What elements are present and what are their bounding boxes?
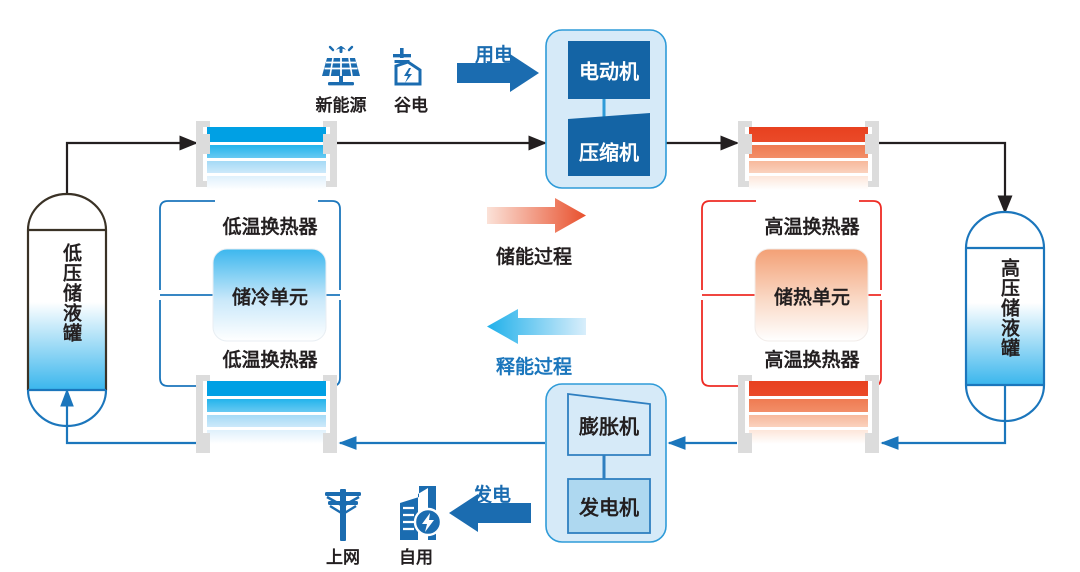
use-power-label: 用电 bbox=[475, 40, 513, 67]
pipe-hptank-to-hothx-bottom bbox=[882, 385, 1005, 443]
source-label-valley-power: 谷电 bbox=[394, 91, 428, 116]
diagram-canvas: 新能源 谷电 用电 上网 自用 发电 电动机 压缩机 膨胀机 发电机 低压储液罐… bbox=[0, 0, 1080, 572]
source-label-new-energy: 新能源 bbox=[316, 91, 367, 116]
discharge-process-arrow bbox=[487, 309, 586, 344]
heat-exchanger-hot-bottom bbox=[738, 375, 879, 453]
motor-label: 电动机 bbox=[579, 56, 639, 85]
pipe-hothx-to-hptank bbox=[879, 143, 1005, 212]
generate-power-label: 发电 bbox=[473, 480, 511, 507]
hot-hx-top-label: 高温换热器 bbox=[764, 212, 859, 239]
heat-exchanger-hot-top bbox=[738, 121, 879, 190]
cold-loop-bottom-left bbox=[160, 300, 215, 386]
charge-process-arrow bbox=[487, 198, 586, 233]
output-label-grid: 上网 bbox=[326, 543, 360, 568]
building-power-icon bbox=[400, 486, 441, 540]
pipe-coldhx-to-lptank bbox=[67, 390, 196, 443]
output-label-self-use: 自用 bbox=[399, 543, 433, 568]
cold-hx-bottom-label: 低温换热器 bbox=[222, 345, 317, 372]
hot-storage-unit-label: 储热单元 bbox=[774, 283, 850, 310]
generator-label: 发电机 bbox=[579, 492, 639, 521]
compressor-label: 压缩机 bbox=[579, 137, 639, 166]
charge-process-label: 储能过程 bbox=[496, 242, 572, 269]
power-tower-icon bbox=[325, 489, 361, 541]
expander-label: 膨胀机 bbox=[579, 411, 639, 440]
cold-storage-unit-label: 储冷单元 bbox=[232, 283, 308, 310]
hot-loop-top-left bbox=[702, 201, 756, 290]
heat-exchanger-cold-top bbox=[196, 121, 337, 190]
factory-power-icon bbox=[393, 48, 420, 84]
hot-hx-bottom-label: 高温换热器 bbox=[764, 345, 859, 372]
diagram-svg bbox=[0, 0, 1080, 572]
hot-loop-bottom-left bbox=[702, 300, 756, 386]
low-pressure-tank-label: 低压储液罐 bbox=[57, 243, 84, 343]
solar-panel-icon bbox=[322, 46, 360, 85]
cold-loop-top-left bbox=[160, 201, 215, 290]
discharge-process-label: 释能过程 bbox=[496, 352, 572, 379]
high-pressure-tank-label: 高压储液罐 bbox=[995, 258, 1022, 358]
heat-exchanger-cold-bottom bbox=[196, 375, 337, 453]
cold-hx-top-label: 低温换热器 bbox=[222, 212, 317, 239]
